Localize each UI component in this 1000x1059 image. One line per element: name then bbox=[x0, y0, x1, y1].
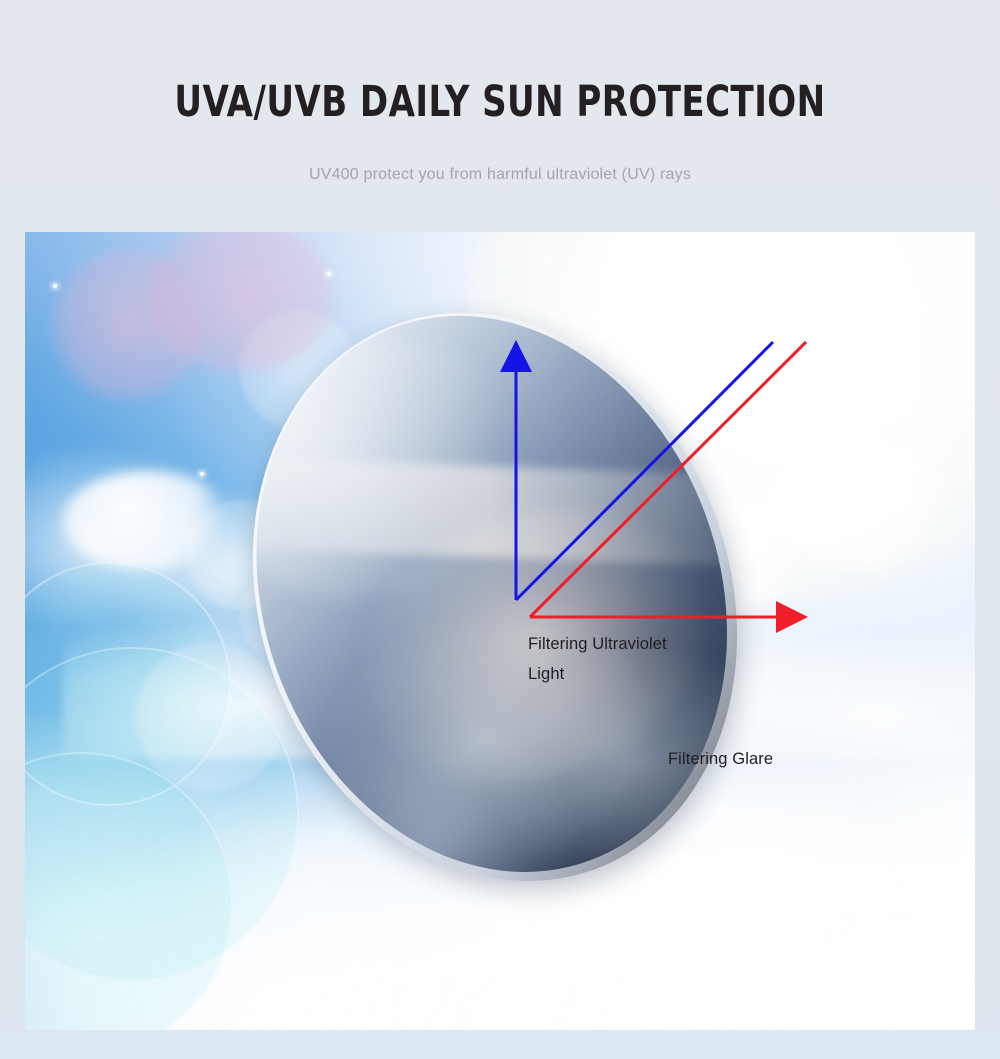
sparkle bbox=[327, 272, 331, 276]
page-background: UVA/UVB DAILY SUN PROTECTION UV400 prote… bbox=[0, 0, 1000, 1059]
header: UVA/UVB DAILY SUN PROTECTION UV400 prote… bbox=[0, 0, 1000, 232]
page-title: UVA/UVB DAILY SUN PROTECTION bbox=[60, 78, 940, 126]
page-subtitle: UV400 protect you from harmful ultraviol… bbox=[0, 164, 1000, 186]
sparkle bbox=[53, 284, 57, 288]
sparkle bbox=[545, 256, 549, 260]
sunglass-lens-over-clouds-photo: Filtering Ultraviolet Light Filtering Gl… bbox=[25, 232, 975, 1030]
